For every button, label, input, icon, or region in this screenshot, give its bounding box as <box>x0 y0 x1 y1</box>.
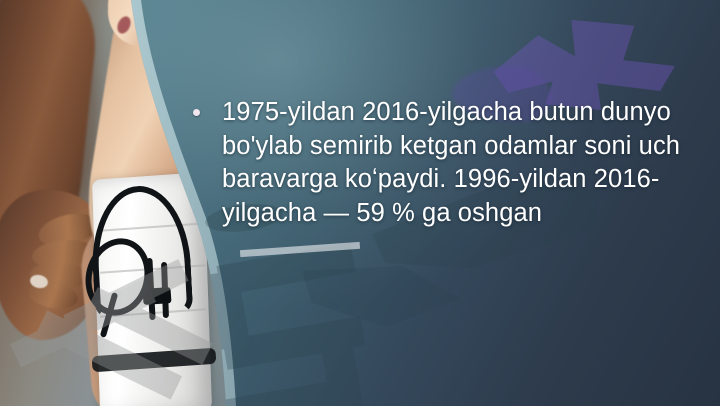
slide-body: 1975-yildan 2016-yilgacha butun dunyo bo… <box>193 96 693 230</box>
presentation-slide: 1975-yildan 2016-yilgacha butun dunyo bo… <box>0 0 720 406</box>
bullet-text: 1975-yildan 2016-yilgacha butun dunyo bo… <box>222 96 693 230</box>
bullet-marker-icon <box>193 109 200 116</box>
bullet-list-item: 1975-yildan 2016-yilgacha butun dunyo bo… <box>193 96 693 230</box>
